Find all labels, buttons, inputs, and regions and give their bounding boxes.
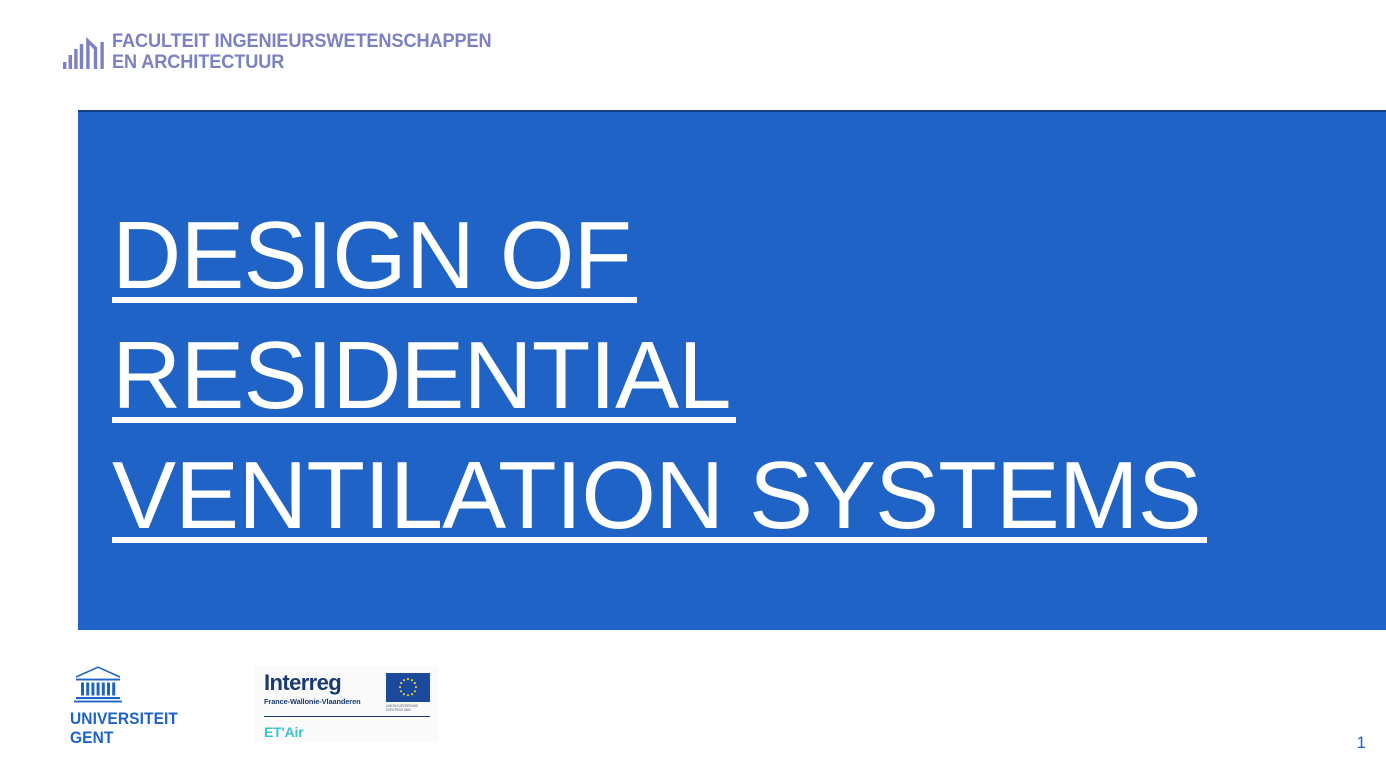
faculty-logo-line-1: FACULTEIT INGENIEURSWETENSCHAPPEN: [112, 31, 491, 52]
faculty-logo-text: FACULTEIT INGENIEURSWETENSCHAPPEN EN ARC…: [112, 28, 520, 73]
faculty-logo: FACULTEIT INGENIEURSWETENSCHAPPEN EN ARC…: [62, 28, 520, 73]
eu-caption-line-2: EUROPESE UNIE: [386, 708, 411, 712]
ugent-logo-line-2: GENT: [70, 729, 183, 748]
ugent-logo: UNIVERSITEIT GENT: [70, 664, 190, 749]
slide-canvas: FACULTEIT INGENIEURSWETENSCHAPPEN EN ARC…: [0, 0, 1386, 779]
title-line-1: DESIGN OF: [112, 196, 637, 316]
interreg-logo: Interreg France-Wallonie-Vlaanderen: [254, 666, 438, 742]
interreg-logo-top: Interreg France-Wallonie-Vlaanderen: [264, 672, 430, 712]
interreg-logo-text: Interreg France-Wallonie-Vlaanderen: [264, 672, 361, 706]
interreg-divider: [264, 716, 430, 717]
title-line-3: VENTILATION SYSTEMS: [112, 436, 1207, 556]
interreg-brand: Interreg: [264, 672, 361, 694]
faculty-logo-line-2: EN ARCHITECTUUR: [112, 52, 491, 73]
eu-flag-icon: [386, 673, 430, 702]
etair-project-label: ET'Air: [264, 724, 430, 740]
page-number: 1: [1357, 734, 1366, 751]
interreg-programme: France-Wallonie-Vlaanderen: [264, 697, 361, 706]
ugent-logo-text: UNIVERSITEIT GENT: [70, 710, 183, 749]
title-line-2: RESIDENTIAL: [112, 316, 736, 436]
title-band: DESIGN OF RESIDENTIAL VENTILATION SYSTEM…: [78, 110, 1386, 630]
ugent-logo-line-1: UNIVERSITEIT: [70, 710, 183, 729]
eu-emblem-caption: UNION EUROPEENNE EUROPESE UNIE: [386, 704, 430, 712]
faculty-building-bars-icon: [62, 28, 104, 73]
ugent-building-columns-icon: [72, 664, 124, 706]
slide-title: DESIGN OF RESIDENTIAL VENTILATION SYSTEM…: [112, 196, 1386, 556]
eu-emblem: UNION EUROPEENNE EUROPESE UNIE: [386, 672, 430, 712]
